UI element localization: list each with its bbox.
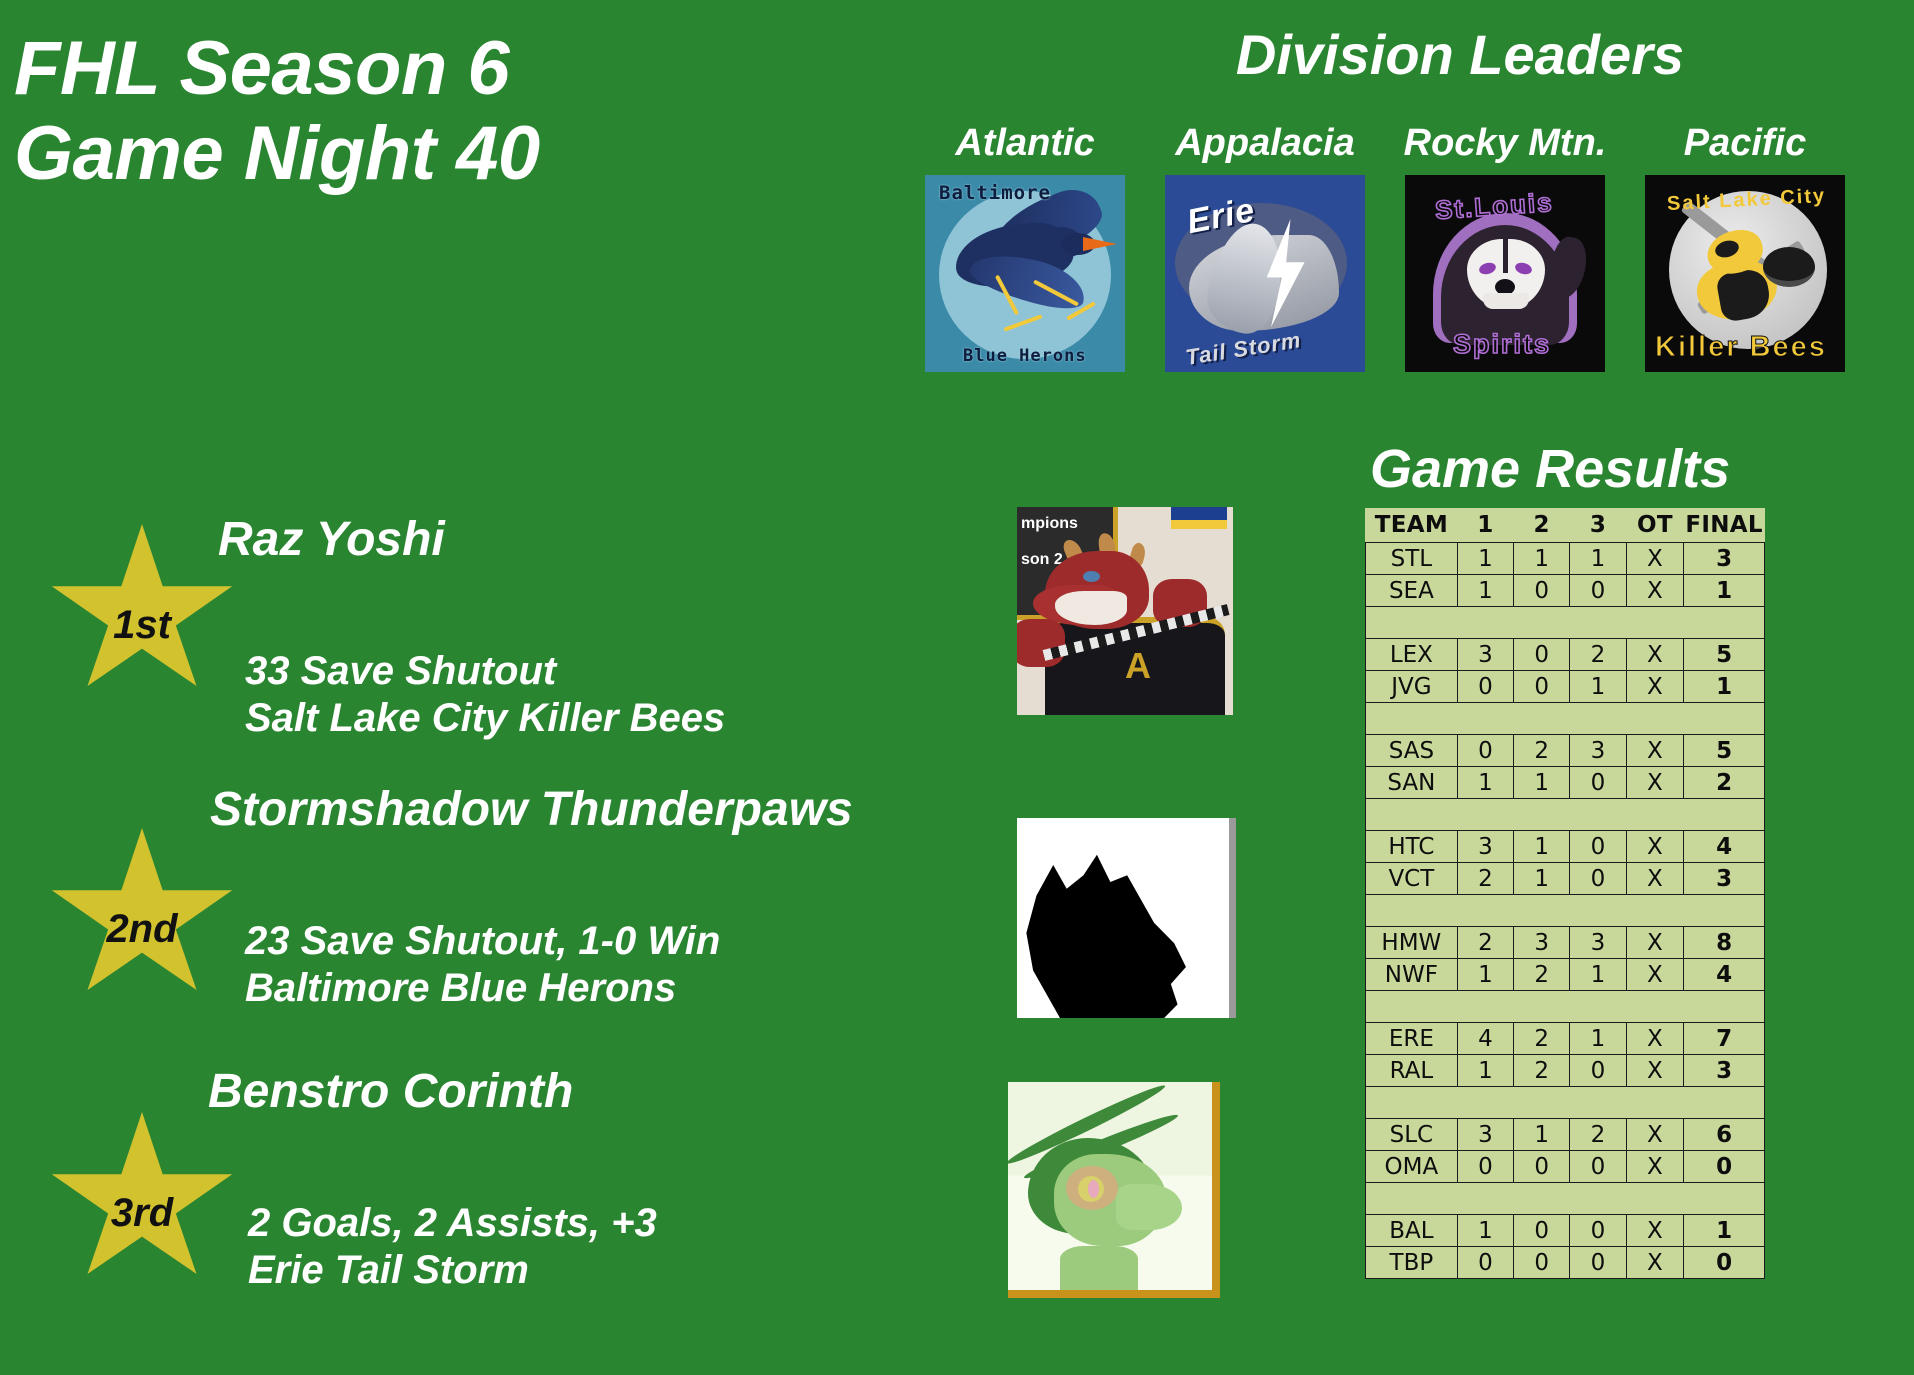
table-row-spacer <box>1366 703 1765 735</box>
cell-p3: 0 <box>1570 575 1626 607</box>
cell-p2: 2 <box>1514 735 1570 767</box>
cell-final: 4 <box>1684 831 1765 863</box>
cell-team: HTC <box>1366 831 1458 863</box>
cell-ot: X <box>1626 1023 1684 1055</box>
cell-p1: 2 <box>1457 927 1513 959</box>
cell-p3: 3 <box>1570 927 1626 959</box>
cell-team: STL <box>1366 543 1458 575</box>
cell-team: ERE <box>1366 1023 1458 1055</box>
baltimore-blue-herons-logo[interactable]: Baltimore Blue Herons <box>925 175 1125 372</box>
cell-team: RAL <box>1366 1055 1458 1087</box>
cell-p1: 0 <box>1457 735 1513 767</box>
cell-ot: X <box>1626 1119 1684 1151</box>
table-row-spacer <box>1366 895 1765 927</box>
table-row: SAN110X2 <box>1366 767 1765 799</box>
table-row: VCT210X3 <box>1366 863 1765 895</box>
cell-p1: 1 <box>1457 959 1513 991</box>
table-row-spacer <box>1366 799 1765 831</box>
table-row-spacer <box>1366 1183 1765 1215</box>
table-row: SAS023X5 <box>1366 735 1765 767</box>
cell-ot: X <box>1626 543 1684 575</box>
spacer-cell <box>1366 895 1765 927</box>
cell-p1: 1 <box>1457 1055 1513 1087</box>
erie-tail-storm-logo[interactable]: Erie Tail Storm <box>1165 175 1365 372</box>
game-results-body: STL111X3SEA100X1LEX302X5JVG001X1SAS023X5… <box>1366 543 1765 1279</box>
table-row: SEA100X1 <box>1366 575 1765 607</box>
cell-p3: 1 <box>1570 959 1626 991</box>
cell-ot: X <box>1626 575 1684 607</box>
cell-ot: X <box>1626 831 1684 863</box>
cell-p2: 0 <box>1514 639 1570 671</box>
cell-team: SEA <box>1366 575 1458 607</box>
cell-p3: 3 <box>1570 735 1626 767</box>
cell-ot: X <box>1626 927 1684 959</box>
cell-team: JVG <box>1366 671 1458 703</box>
cell-p2: 0 <box>1514 1151 1570 1183</box>
cell-p1: 2 <box>1457 863 1513 895</box>
cell-ot: X <box>1626 1151 1684 1183</box>
cell-p1: 0 <box>1457 671 1513 703</box>
division-leaders-row: Atlantic Baltimore Blue Herons Appalacia <box>905 122 1865 372</box>
cell-team: SAS <box>1366 735 1458 767</box>
star-player-name-2nd: Stormshadow Thunderpaws <box>210 782 853 837</box>
table-row: LEX302X5 <box>1366 639 1765 671</box>
cell-p3: 1 <box>1570 671 1626 703</box>
column-header-period-3: 3 <box>1570 508 1626 543</box>
cell-p2: 0 <box>1514 671 1570 703</box>
table-row: STL111X3 <box>1366 543 1765 575</box>
table-row: HTC310X4 <box>1366 831 1765 863</box>
cell-p2: 2 <box>1514 1023 1570 1055</box>
cell-p3: 0 <box>1570 1247 1626 1279</box>
cell-p1: 1 <box>1457 767 1513 799</box>
star-rank-label-1st: 1st <box>113 603 171 648</box>
cell-p1: 0 <box>1457 1151 1513 1183</box>
spacer-cell <box>1366 1183 1765 1215</box>
cell-final: 2 <box>1684 767 1765 799</box>
cell-final: 1 <box>1684 671 1765 703</box>
cell-team: OMA <box>1366 1151 1458 1183</box>
cell-ot: X <box>1626 639 1684 671</box>
cell-p1: 1 <box>1457 543 1513 575</box>
cell-p1: 0 <box>1457 1247 1513 1279</box>
cell-p3: 1 <box>1570 1023 1626 1055</box>
black-wolf-silhouette-portrait <box>1017 818 1236 1018</box>
cell-final: 1 <box>1684 1215 1765 1247</box>
cell-p3: 0 <box>1570 1215 1626 1247</box>
cell-p3: 2 <box>1570 1119 1626 1151</box>
division-label-atlantic: Atlantic <box>955 122 1094 165</box>
cell-ot: X <box>1626 671 1684 703</box>
cell-final: 3 <box>1684 863 1765 895</box>
cell-p1: 3 <box>1457 1119 1513 1151</box>
star-stat-lines-1st: 33 Save Shutout Salt Lake City Killer Be… <box>245 648 725 742</box>
division-label-rocky-mtn: Rocky Mtn. <box>1404 122 1607 165</box>
star-badge-3rd: 3rd <box>48 1112 236 1290</box>
logo-text-baltimore: Baltimore <box>939 182 1051 204</box>
cell-p3: 0 <box>1570 863 1626 895</box>
poster-canvas: FHL Season 6 Game Night 40 Division Lead… <box>0 0 1914 1375</box>
cell-p3: 0 <box>1570 831 1626 863</box>
cell-team: BAL <box>1366 1215 1458 1247</box>
cell-final: 0 <box>1684 1151 1765 1183</box>
cell-p2: 1 <box>1514 863 1570 895</box>
column-header-period-2: 2 <box>1514 508 1570 543</box>
cell-p3: 0 <box>1570 767 1626 799</box>
division-column-rocky-mtn: Rocky Mtn. St.Louis Spirits <box>1385 122 1625 372</box>
page-title: FHL Season 6 Game Night 40 <box>14 26 774 196</box>
cell-team: VCT <box>1366 863 1458 895</box>
star-badge-2nd: 2nd <box>48 828 236 1006</box>
cell-final: 1 <box>1684 575 1765 607</box>
table-row: BAL100X1 <box>1366 1215 1765 1247</box>
table-row-spacer <box>1366 607 1765 639</box>
cell-team: NWF <box>1366 959 1458 991</box>
cell-p1: 1 <box>1457 575 1513 607</box>
spacer-cell <box>1366 703 1765 735</box>
cell-p1: 1 <box>1457 1215 1513 1247</box>
table-row-spacer <box>1366 1087 1765 1119</box>
star-badge-1st: 1st <box>48 524 236 702</box>
cell-final: 8 <box>1684 927 1765 959</box>
cell-ot: X <box>1626 1247 1684 1279</box>
cell-ot: X <box>1626 767 1684 799</box>
cell-p2: 3 <box>1514 927 1570 959</box>
salt-lake-city-killer-bees-logo[interactable]: Salt Lake City Killer Bees <box>1645 175 1845 372</box>
cell-p2: 0 <box>1514 1247 1570 1279</box>
table-row: SLC312X6 <box>1366 1119 1765 1151</box>
cell-ot: X <box>1626 863 1684 895</box>
division-column-pacific: Pacific Salt Lake City Killer Bees <box>1625 122 1865 372</box>
cell-p2: 1 <box>1514 543 1570 575</box>
cell-ot: X <box>1626 1055 1684 1087</box>
game-results-table: TEAM 1 2 3 OT FINAL STL111X3SEA100X1LEX3… <box>1365 508 1765 1279</box>
cell-team: SLC <box>1366 1119 1458 1151</box>
division-column-atlantic: Atlantic Baltimore Blue Herons <box>905 122 1145 372</box>
column-header-ot: OT <box>1626 508 1684 543</box>
cell-final: 5 <box>1684 735 1765 767</box>
star-rank-label-2nd: 2nd <box>106 907 177 952</box>
table-row: NWF121X4 <box>1366 959 1765 991</box>
green-dragon-portrait <box>1008 1082 1220 1298</box>
cell-p3: 2 <box>1570 639 1626 671</box>
cell-ot: X <box>1626 1215 1684 1247</box>
division-label-pacific: Pacific <box>1684 122 1807 165</box>
column-header-team: TEAM <box>1366 508 1458 543</box>
division-leaders-heading: Division Leaders <box>1200 22 1720 87</box>
cell-final: 3 <box>1684 1055 1765 1087</box>
cell-final: 5 <box>1684 639 1765 671</box>
cell-team: SAN <box>1366 767 1458 799</box>
cell-p2: 2 <box>1514 959 1570 991</box>
table-row: ERE421X7 <box>1366 1023 1765 1055</box>
table-row: JVG001X1 <box>1366 671 1765 703</box>
table-row: OMA000X0 <box>1366 1151 1765 1183</box>
cell-ot: X <box>1626 959 1684 991</box>
cell-p3: 0 <box>1570 1151 1626 1183</box>
cell-p2: 1 <box>1514 1119 1570 1151</box>
cell-ot: X <box>1626 735 1684 767</box>
column-header-final: FINAL <box>1684 508 1765 543</box>
star-player-name-3rd: Benstro Corinth <box>208 1064 573 1119</box>
cell-p2: 0 <box>1514 1215 1570 1247</box>
star-stat-lines-2nd: 23 Save Shutout, 1-0 Win Baltimore Blue … <box>245 918 720 1012</box>
cell-final: 7 <box>1684 1023 1765 1055</box>
table-header-row: TEAM 1 2 3 OT FINAL <box>1366 508 1765 543</box>
cell-team: HMW <box>1366 927 1458 959</box>
column-header-period-1: 1 <box>1457 508 1513 543</box>
division-column-appalacia: Appalacia Erie Tail Storm <box>1145 122 1385 372</box>
red-dragon-goalie-portrait: mpions son 2 A <box>1017 507 1233 715</box>
cell-team: TBP <box>1366 1247 1458 1279</box>
table-row-spacer <box>1366 991 1765 1023</box>
cell-final: 6 <box>1684 1119 1765 1151</box>
logo-text-blue-herons: Blue Herons <box>963 346 1087 366</box>
table-row: TBP000X0 <box>1366 1247 1765 1279</box>
cell-p2: 0 <box>1514 575 1570 607</box>
spacer-cell <box>1366 799 1765 831</box>
cell-p2: 2 <box>1514 1055 1570 1087</box>
game-results-heading: Game Results <box>1370 438 1780 500</box>
cell-p2: 1 <box>1514 767 1570 799</box>
spacer-cell <box>1366 1087 1765 1119</box>
cell-p1: 3 <box>1457 639 1513 671</box>
cell-final: 0 <box>1684 1247 1765 1279</box>
cell-p3: 0 <box>1570 1055 1626 1087</box>
logo-text-spirits: Spirits <box>1453 329 1551 360</box>
star-rank-label-3rd: 3rd <box>111 1191 173 1236</box>
cell-p2: 1 <box>1514 831 1570 863</box>
table-row: HMW233X8 <box>1366 927 1765 959</box>
cell-p3: 1 <box>1570 543 1626 575</box>
star-stat-lines-3rd: 2 Goals, 2 Assists, +3 Erie Tail Storm <box>248 1200 657 1294</box>
cell-team: LEX <box>1366 639 1458 671</box>
cell-final: 3 <box>1684 543 1765 575</box>
st-louis-spirits-logo[interactable]: St.Louis Spirits <box>1405 175 1605 372</box>
spacer-cell <box>1366 607 1765 639</box>
cell-final: 4 <box>1684 959 1765 991</box>
cell-p1: 3 <box>1457 831 1513 863</box>
cell-p1: 4 <box>1457 1023 1513 1055</box>
table-row: RAL120X3 <box>1366 1055 1765 1087</box>
spacer-cell <box>1366 991 1765 1023</box>
logo-text-killer-bees: Killer Bees <box>1655 331 1827 364</box>
division-label-appalacia: Appalacia <box>1175 122 1355 165</box>
star-player-name-1st: Raz Yoshi <box>218 512 445 567</box>
